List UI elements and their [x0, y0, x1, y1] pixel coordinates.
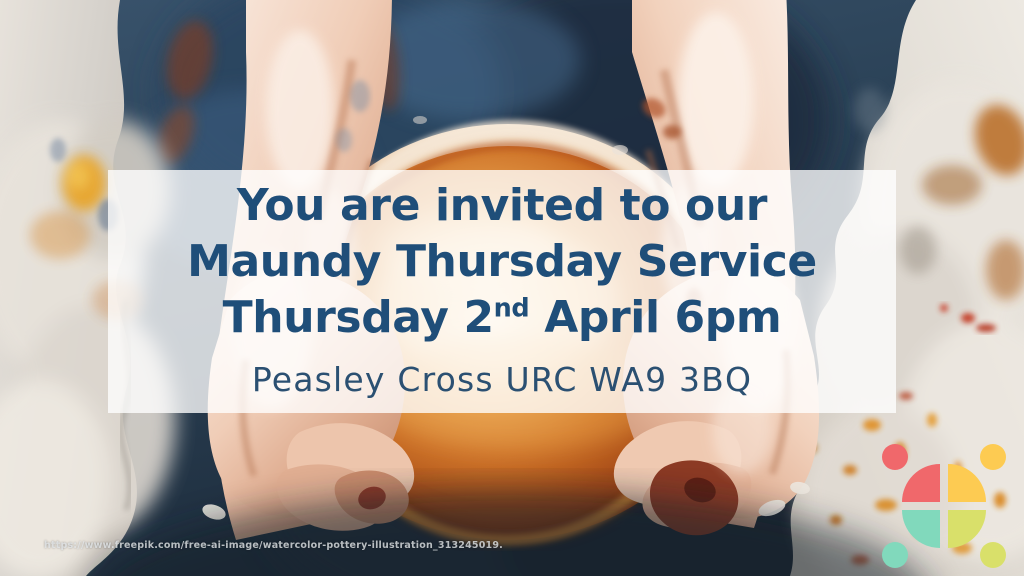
poster-canvas: You are invited to our Maundy Thursday S…	[0, 0, 1024, 576]
headline-line-1: You are invited to our	[237, 178, 767, 234]
date-suffix: April 6pm	[529, 292, 781, 343]
logo-dot-top-left	[882, 444, 908, 470]
logo-quadrant-top-left	[902, 464, 940, 502]
image-credit-url: https://www.freepik.com/free-ai-image/wa…	[44, 540, 503, 551]
headline-line-2: Maundy Thursday Service	[187, 234, 817, 290]
date-ordinal-suffix: nd	[494, 293, 530, 323]
venue-subline: Peasley Cross URC WA9 3BQ	[252, 360, 752, 399]
logo-quadrant-top-right	[948, 464, 986, 502]
logo-quadrant-bottom-left	[902, 510, 940, 548]
date-prefix: Thursday 2	[223, 292, 494, 343]
four-quarter-petal-logo	[878, 438, 1010, 570]
text-overlay-panel: You are invited to our Maundy Thursday S…	[108, 170, 896, 413]
logo-dot-top-right	[980, 444, 1006, 470]
logo-dot-bottom-left	[882, 542, 908, 568]
logo-dot-bottom-right	[980, 542, 1006, 568]
logo-quadrant-bottom-right	[948, 510, 986, 548]
headline-line-3-date: Thursday 2nd April 6pm	[223, 290, 782, 346]
